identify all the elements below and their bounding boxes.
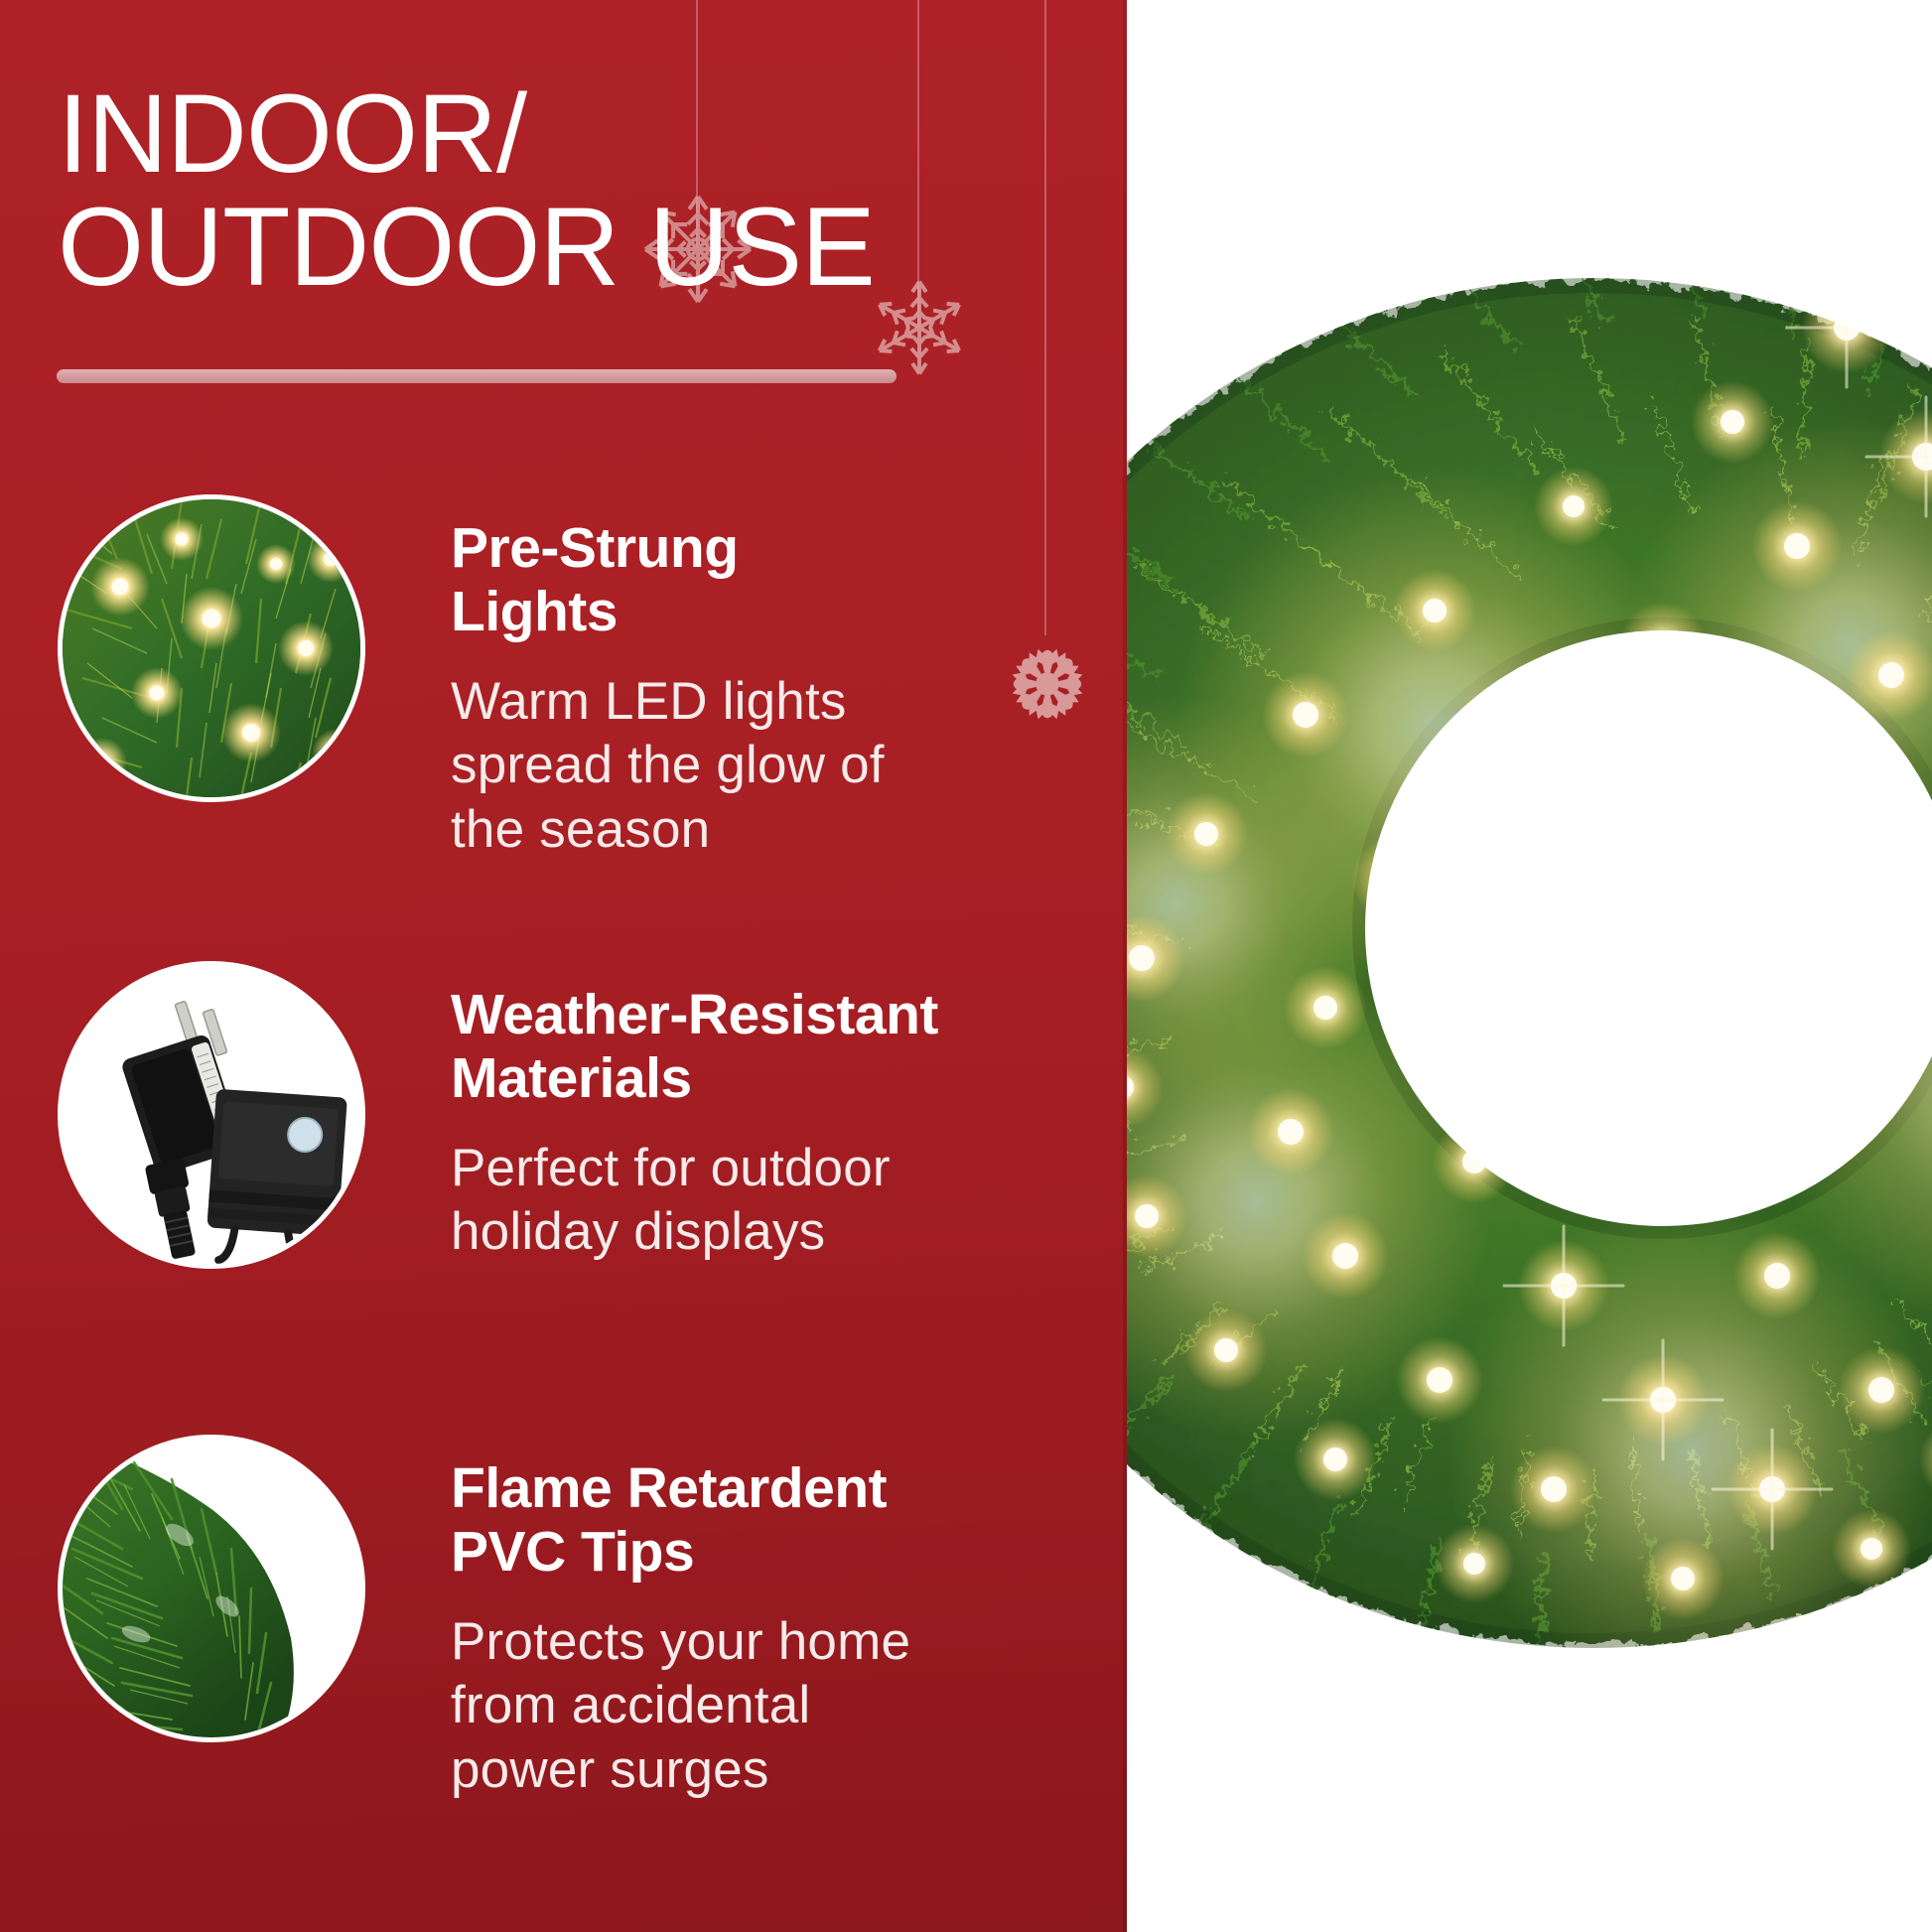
feature-body: Perfect for outdoor holiday displays bbox=[451, 1137, 1056, 1265]
red-info-panel: INDOOR/ OUTDOOR USE bbox=[0, 0, 1127, 1932]
green-pvc-branch-tips-photo bbox=[58, 1435, 365, 1742]
page-title: INDOOR/ OUTDOOR USE bbox=[58, 77, 1040, 304]
feature-heading: Weather-Resistant Materials bbox=[451, 983, 1056, 1111]
feature-text-block: Weather-Resistant Materials Perfect for … bbox=[451, 961, 1056, 1265]
product-image-panel bbox=[1127, 0, 1932, 1932]
power-plug-adapter-photo bbox=[58, 961, 365, 1269]
feature-body: Protects your home from accidental power… bbox=[451, 1610, 1056, 1803]
feature-item-flame-retardent-pvc-tips: Flame Retardent PVC Tips Protects your h… bbox=[58, 1435, 1056, 1803]
feature-body: Warm LED lights spread the glow of the s… bbox=[451, 670, 1056, 863]
feature-item-weather-resistant-materials: Weather-Resistant Materials Perfect for … bbox=[58, 961, 1056, 1269]
feature-text-block: Pre-Strung Lights Warm LED lights spread… bbox=[451, 494, 1056, 863]
feature-text-block: Flame Retardent PVC Tips Protects your h… bbox=[451, 1435, 1056, 1803]
infographic-page: INDOOR/ OUTDOOR USE bbox=[0, 0, 1932, 1932]
lit-wreath-closeup-photo bbox=[58, 494, 365, 802]
feature-heading: Pre-Strung Lights bbox=[451, 516, 1056, 644]
feature-heading: Flame Retardent PVC Tips bbox=[451, 1456, 1056, 1585]
title-divider bbox=[57, 369, 897, 383]
feature-item-pre-strung-lights: Pre-Strung Lights Warm LED lights spread… bbox=[58, 494, 1056, 863]
pre-lit-christmas-wreath bbox=[1127, 30, 1932, 1896]
